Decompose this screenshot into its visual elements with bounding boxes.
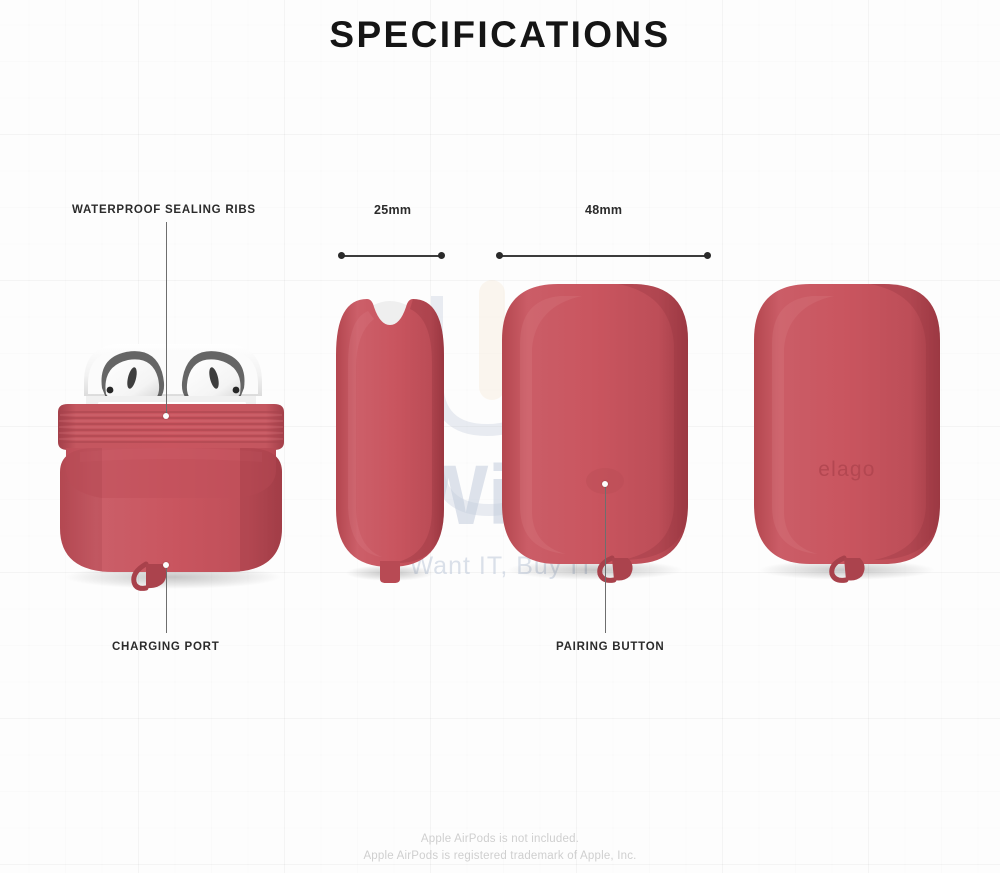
callout-dot-charging-port — [163, 562, 169, 568]
case-body — [60, 448, 282, 572]
waterproof-sealing-ribs — [58, 404, 284, 450]
product-view-front-closed — [490, 278, 700, 593]
dimension-endpoint-depth-right — [438, 252, 445, 259]
disclaimer-line-1: Apple AirPods is not included. — [0, 831, 1000, 848]
product-view-front-open — [40, 272, 302, 602]
callout-label-charging-port: CHARGING PORT — [112, 641, 220, 653]
dimension-line-width — [500, 255, 708, 257]
callout-dot-pairing-button — [602, 481, 608, 487]
callout-dot-waterproof-sealing-ribs — [163, 413, 169, 419]
case-body-side — [336, 299, 444, 567]
case-body-closed — [502, 284, 688, 564]
callout-label-waterproof-sealing-ribs: WATERPROOF SEALING RIBS — [72, 204, 256, 216]
product-view-side — [322, 285, 458, 590]
case-body-back — [754, 284, 940, 564]
page-title: SPECIFICATIONS — [0, 14, 1000, 56]
product-view-back: elago — [742, 278, 952, 593]
callout-leader-waterproof-sealing-ribs — [166, 222, 167, 416]
callout-leader-pairing-button — [605, 484, 606, 633]
callout-leader-charging-port — [166, 565, 167, 633]
dimension-endpoint-width-left — [496, 252, 503, 259]
dimension-label-depth: 25mm — [374, 203, 411, 217]
callout-label-pairing-button: PAIRING BUTTON — [556, 641, 664, 653]
brand-logo: elago — [818, 458, 875, 481]
dimension-line-depth — [342, 255, 442, 257]
specification-page: WiBi Want IT, Buy IT SPECIFICATIONS 25mm… — [0, 0, 1000, 873]
charging-port-tab — [380, 561, 400, 583]
dimension-label-width: 48mm — [585, 203, 622, 217]
dimension-endpoint-width-right — [704, 252, 711, 259]
disclaimer-line-2: Apple AirPods is registered trademark of… — [0, 848, 1000, 865]
dimension-endpoint-depth-left — [338, 252, 345, 259]
footer-disclaimer: Apple AirPods is not included. Apple Air… — [0, 831, 1000, 865]
